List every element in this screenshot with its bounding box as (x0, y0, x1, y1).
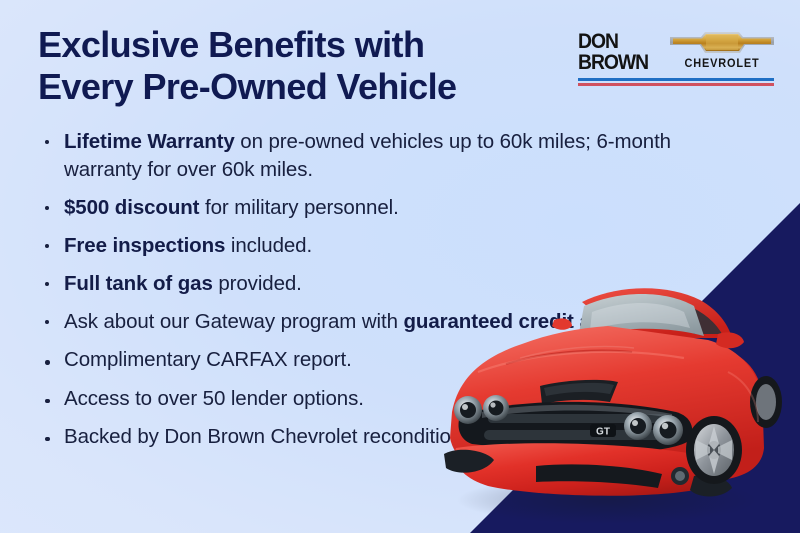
benefit-bold-0: Lifetime Warranty (64, 130, 235, 153)
list-item: Lifetime Warranty on pre-owned vehicles … (38, 128, 728, 184)
benefit-rest-4: . (664, 310, 670, 333)
benefits-list: Lifetime Warranty on pre-owned vehicles … (38, 128, 728, 461)
benefit-plain-5: Complimentary CARFAX report. (64, 348, 352, 371)
list-item: Backed by Don Brown Chevrolet reconditio… (38, 423, 728, 451)
dealer-name-line-1: DON (578, 32, 648, 53)
list-item: Access to over 50 lender options. (38, 385, 728, 413)
benefit-plain-7: Backed by Don Brown Chevrolet reconditio… (64, 425, 495, 448)
list-item: Ask about our Gateway program with guara… (38, 308, 728, 336)
brand-mark: CHEVROLET (670, 30, 774, 70)
headline-line-1: Exclusive Benefits with (38, 24, 424, 65)
benefit-rest-2: included. (225, 234, 312, 257)
list-item: Complimentary CARFAX report. (38, 346, 728, 374)
benefit-rest-3: provided. (213, 272, 302, 295)
benefit-bold-1: $500 discount (64, 196, 199, 219)
benefit-rest-1: for military personnel. (199, 196, 398, 219)
chevrolet-bowtie-icon (670, 30, 774, 57)
headline-line-2: Every Pre-Owned Vehicle (38, 66, 538, 108)
list-item: $500 discount for military personnel. (38, 194, 728, 222)
list-item: Free inspections included. (38, 232, 728, 260)
logo-stripes (578, 78, 774, 86)
benefit-bold-2: Free inspections (64, 234, 225, 257)
page-title: Exclusive Benefits with Every Pre-Owned … (38, 24, 538, 108)
brand-wordmark: CHEVROLET (673, 58, 772, 70)
benefit-bold-4: guaranteed credit approval (403, 310, 664, 333)
list-item: Full tank of gas provided. (38, 270, 728, 298)
dealer-logo: DON BROWN (578, 30, 774, 86)
dealer-name: DON BROWN (578, 30, 648, 73)
benefit-lead-4: Ask about our Gateway program with (64, 310, 403, 333)
dealer-name-line-2: BROWN (578, 53, 648, 74)
benefit-plain-6: Access to over 50 lender options. (64, 387, 364, 410)
stripe-red (578, 83, 774, 86)
logo-top-row: DON BROWN (578, 30, 774, 73)
benefit-bold-3: Full tank of gas (64, 272, 213, 295)
promo-banner: Exclusive Benefits with Every Pre-Owned … (0, 0, 800, 533)
